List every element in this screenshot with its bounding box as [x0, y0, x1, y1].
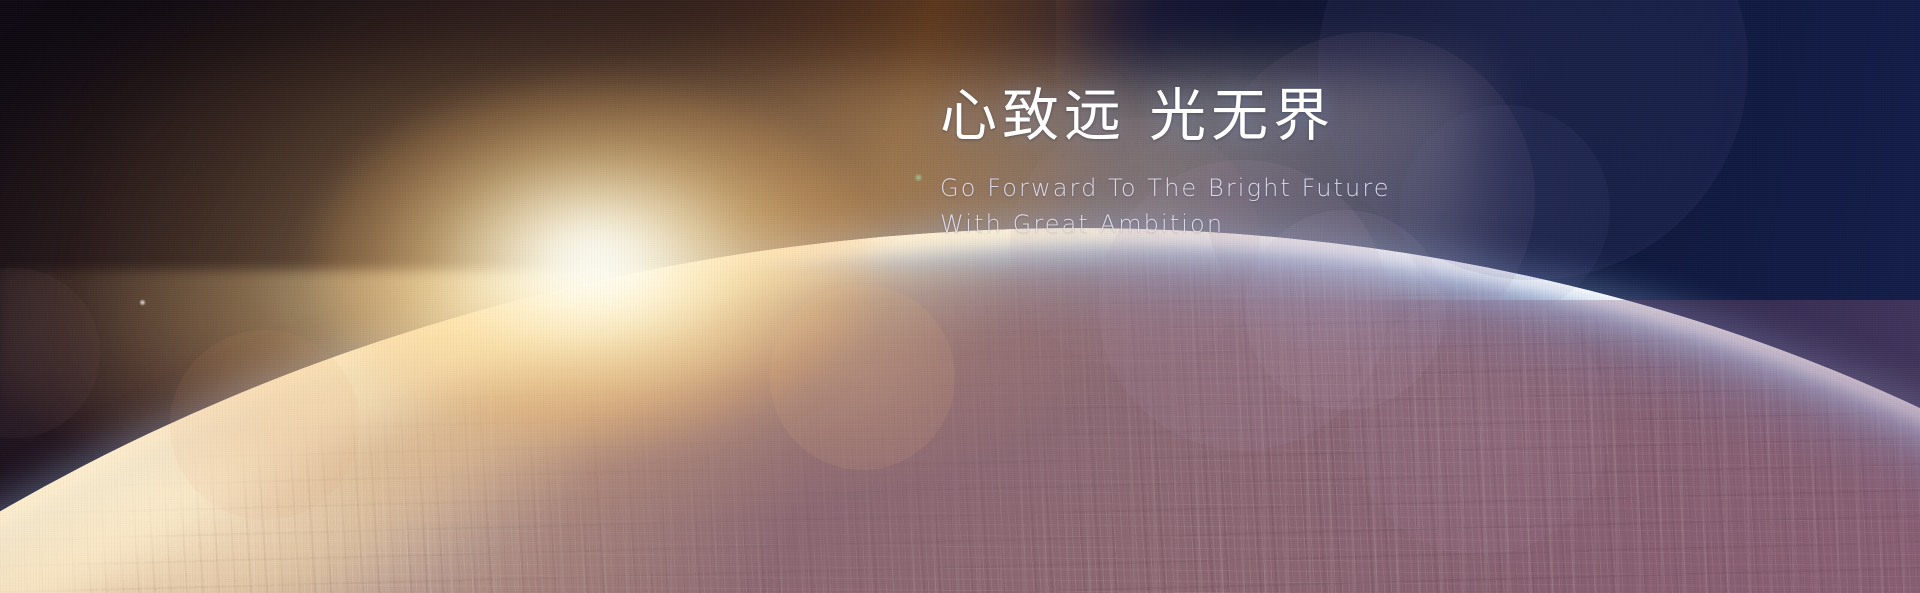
- sun-core-glow: [315, 81, 875, 441]
- subtitle-block: Go Forward To The Bright Future With Gre…: [940, 170, 1391, 243]
- slogan-block: 心致远 光无界 Go Forward To The Bright Future …: [940, 86, 1391, 242]
- hero-banner: 心致远 光无界 Go Forward To The Bright Future …: [0, 0, 1920, 593]
- subtitle-line-2: With Great Ambition: [940, 206, 1391, 242]
- headline-slogan: 心致远 光无界: [940, 86, 1391, 148]
- subtitle-line-1: Go Forward To The Bright Future: [940, 170, 1391, 206]
